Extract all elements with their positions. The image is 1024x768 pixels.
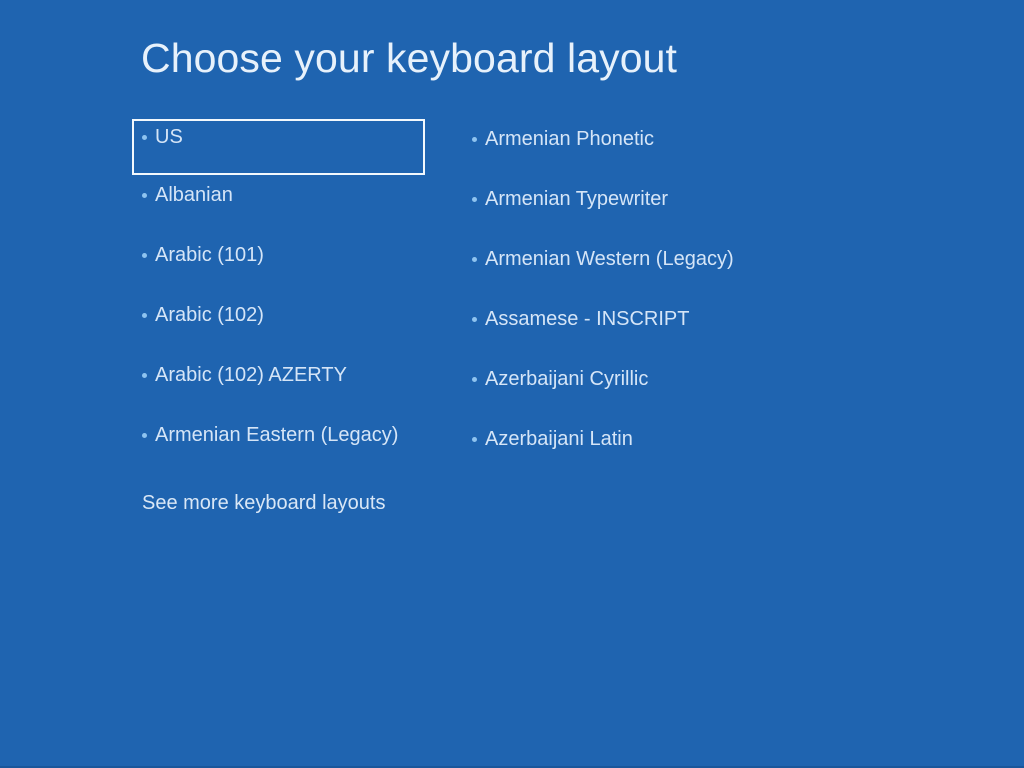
bullet-dot-icon [472,437,477,442]
bullet-dot-icon [472,197,477,202]
bullet-dot-icon [472,257,477,262]
keyboard-layout-item-label: Armenian Eastern (Legacy) [155,424,398,446]
bullet-dot-icon [472,137,477,142]
keyboard-layout-item[interactable]: Arabic (102) AZERTY [132,355,425,415]
keyboard-layout-item-label: Armenian Western (Legacy) [485,248,734,270]
bullet-dot-icon [142,373,147,378]
keyboard-layout-item[interactable]: Armenian Western (Legacy) [462,239,782,299]
keyboard-layout-item-label: Assamese - INSCRIPT [485,308,689,330]
bullet-dot-icon [472,317,477,322]
keyboard-layout-item[interactable]: US [132,119,425,175]
keyboard-layout-item[interactable]: Azerbaijani Cyrillic [462,359,782,419]
keyboard-layout-item-label: Arabic (101) [155,244,264,266]
keyboard-layout-item[interactable]: Albanian [132,175,425,235]
keyboard-layout-item-label: Armenian Typewriter [485,188,668,210]
keyboard-layout-item[interactable]: Armenian Eastern (Legacy) [132,415,425,475]
page-title: Choose your keyboard layout [141,38,677,79]
keyboard-layout-item[interactable]: Armenian Phonetic [462,119,782,179]
keyboard-layout-item[interactable]: Azerbaijani Latin [462,419,782,479]
keyboard-layout-item-label: Arabic (102) AZERTY [155,364,347,386]
bullet-dot-icon [142,135,147,140]
keyboard-layout-column-left: USAlbanianArabic (101)Arabic (102)Arabic… [132,119,462,475]
bullet-dot-icon [142,313,147,318]
keyboard-layout-item[interactable]: Arabic (101) [132,235,425,295]
keyboard-layout-item[interactable]: Arabic (102) [132,295,425,355]
see-more-keyboard-layouts-link[interactable]: See more keyboard layouts [142,492,385,514]
keyboard-layout-item-label: Armenian Phonetic [485,128,654,150]
bullet-dot-icon [142,253,147,258]
keyboard-layout-item[interactable]: Assamese - INSCRIPT [462,299,782,359]
keyboard-layout-item-label: US [155,126,183,148]
keyboard-layout-item-label: Arabic (102) [155,304,264,326]
bullet-dot-icon [142,433,147,438]
bullet-dot-icon [142,193,147,198]
keyboard-layout-item-label: Azerbaijani Cyrillic [485,368,648,390]
keyboard-layout-column-right: Armenian PhoneticArmenian TypewriterArme… [462,119,802,479]
keyboard-layout-item-label: Albanian [155,184,233,206]
keyboard-layout-screen: Choose your keyboard layout USAlbanianAr… [0,0,1024,768]
bullet-dot-icon [472,377,477,382]
keyboard-layout-item[interactable]: Armenian Typewriter [462,179,782,239]
keyboard-layout-item-label: Azerbaijani Latin [485,428,633,450]
